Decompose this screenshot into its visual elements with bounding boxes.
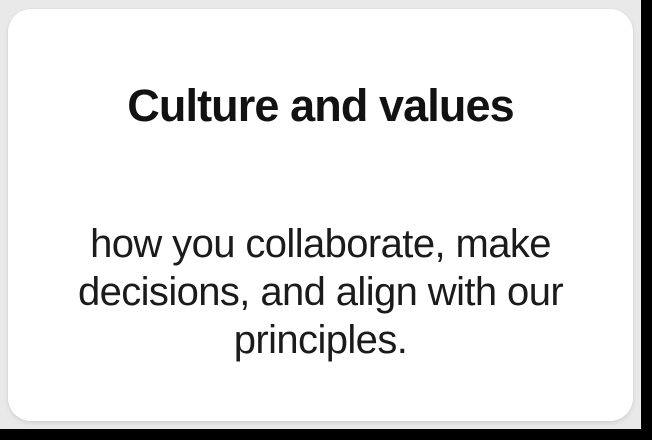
right-gutter xyxy=(641,0,652,440)
card-description: how you collaborate, make decisions, and… xyxy=(34,220,607,364)
bottom-gutter xyxy=(0,429,652,440)
page-title: Culture and values xyxy=(34,79,607,133)
screenshot-canvas: Culture and values how you collaborate, … xyxy=(0,0,652,440)
card-inner: Culture and values how you collaborate, … xyxy=(8,9,633,421)
page-surface: Culture and values how you collaborate, … xyxy=(0,0,641,429)
culture-and-values-card[interactable]: Culture and values how you collaborate, … xyxy=(8,9,633,421)
